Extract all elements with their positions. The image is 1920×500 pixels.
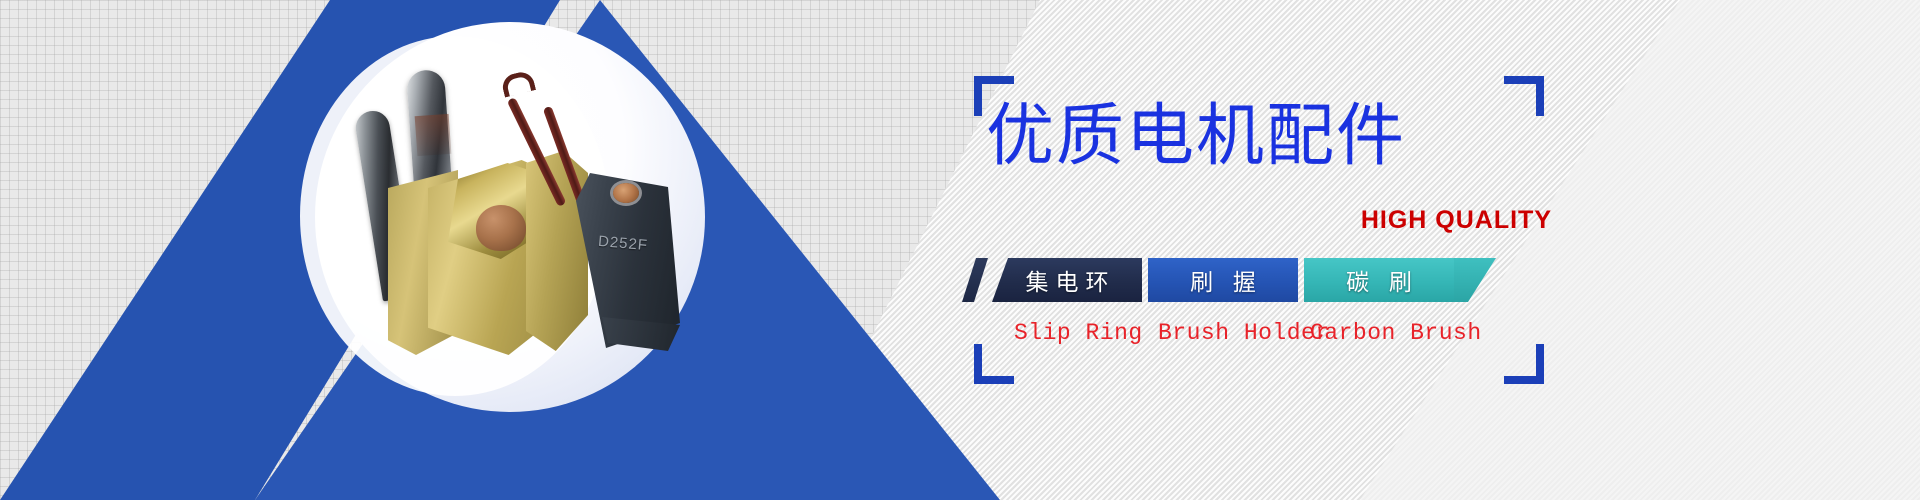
category-english-labels: Slip Ring Brush Holder Carbon Brush (962, 320, 1522, 354)
banner-subtitle: HIGH QUALITY (1361, 206, 1552, 235)
tab-brush-holder[interactable]: 刷 握 (1148, 258, 1298, 302)
promo-banner: D252F 优质电机配件 HIGH QUALITY 集电环 刷 握 碳 刷 Sl… (0, 0, 1920, 500)
lead-hook-terminal (500, 69, 536, 97)
tab-accent-sliver (962, 258, 988, 302)
label-brush-holder: Brush Holder (1158, 320, 1330, 346)
tab-slip-ring[interactable]: 集电环 (992, 258, 1142, 302)
label-slip-ring: Slip Ring (1014, 320, 1143, 346)
banner-title: 优质电机配件 (986, 102, 1406, 170)
tab-carbon-brush[interactable]: 碳 刷 (1304, 258, 1454, 302)
copper-rivet (613, 183, 639, 203)
corner-bracket-top-right-icon (1500, 76, 1544, 120)
copper-pin (476, 205, 526, 251)
tab-trailing-arrow (1454, 258, 1496, 302)
blade-reflection (415, 114, 452, 156)
product-photo: D252F (330, 55, 720, 375)
label-carbon-brush: Carbon Brush (1310, 320, 1482, 346)
text-content-block: 优质电机配件 HIGH QUALITY 集电环 刷 握 碳 刷 Slip Rin… (960, 58, 1560, 398)
category-tabs: 集电环 刷 握 碳 刷 (962, 258, 1522, 302)
